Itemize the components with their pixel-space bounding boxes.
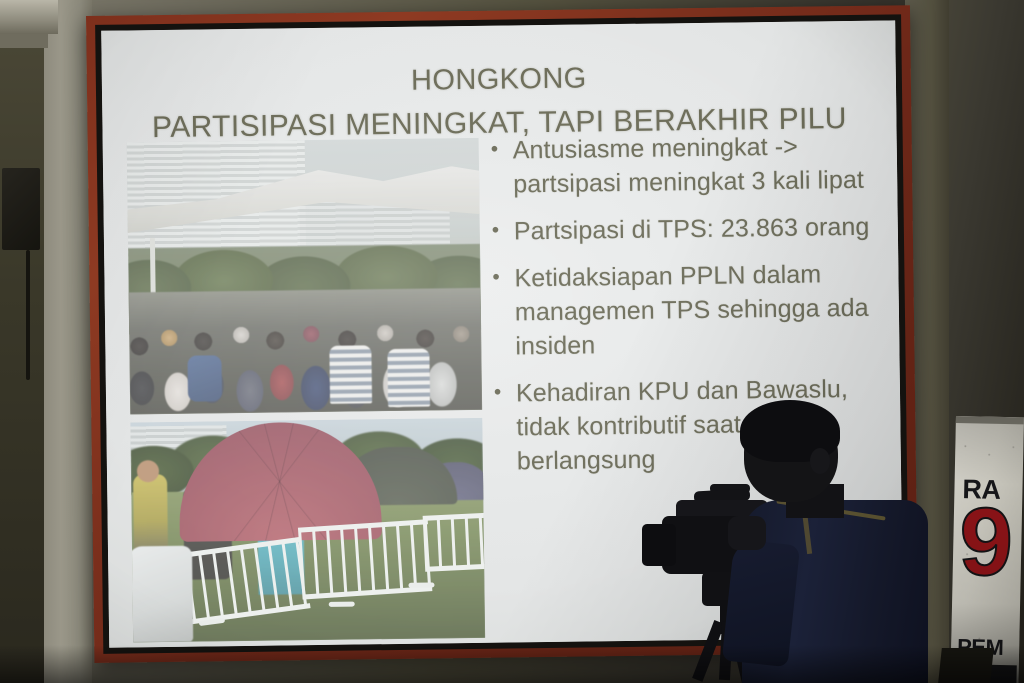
- slide-bullet-item: • Partsipasi di TPS: 23.863 orang: [492, 209, 900, 248]
- bullet-text: Antusiasme meningkat -> partsipasi menin…: [513, 128, 900, 201]
- ceiling-cornice: [0, 0, 58, 34]
- cameraman-silhouette: [636, 396, 966, 683]
- slide-bullet-item: • Ketidaksiapan PPLN dalam managemen TPS…: [492, 256, 901, 363]
- photo-projection-washout: [127, 138, 483, 415]
- umbrella-queue-barrier-photo: [130, 418, 485, 643]
- roll-up-banner: RA 9 PEM: [950, 416, 1024, 683]
- camera-lens-hood: [642, 524, 676, 566]
- bullet-dot-icon: •: [492, 214, 514, 248]
- speaker-cable: [26, 250, 30, 380]
- photo-projection-washout: [130, 418, 485, 643]
- ceiling-cornice-shadow: [0, 34, 48, 48]
- crowd-under-tent-photo: [127, 138, 483, 415]
- slide-image-column: [127, 138, 486, 643]
- left-wall-column: [44, 0, 92, 683]
- bullet-dot-icon: •: [491, 133, 514, 201]
- floor-shadow: [0, 645, 1024, 683]
- bullet-text: Ketidaksiapan PPLN dalam managemen TPS s…: [514, 256, 901, 363]
- bullet-text: Partsipasi di TPS: 23.863 orang: [514, 209, 900, 248]
- bullet-dot-icon: •: [494, 376, 517, 478]
- bullet-dot-icon: •: [492, 261, 515, 363]
- cameraman-hand: [728, 516, 766, 550]
- banner-shading: [950, 416, 1024, 683]
- wall-speaker: [2, 168, 40, 250]
- slide-title-line-1: HONGKONG: [411, 62, 587, 96]
- cameraman-ear: [810, 448, 830, 474]
- slide-bullet-item: • Antusiasme meningkat -> partsipasi men…: [491, 128, 900, 201]
